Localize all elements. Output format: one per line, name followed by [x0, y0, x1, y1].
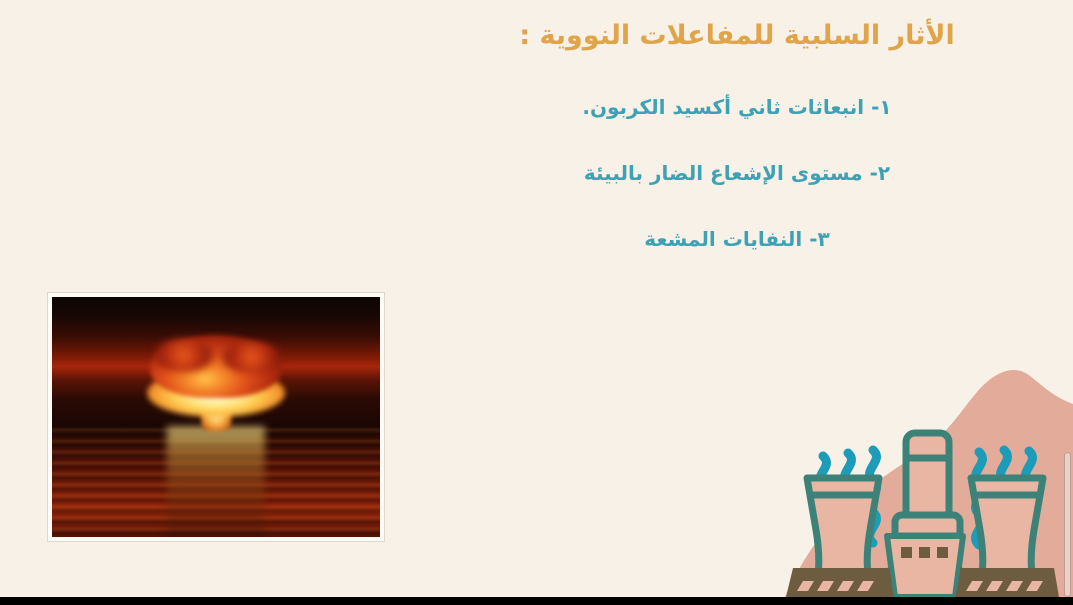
- page-title: الأثار السلبية للمفاعلات النووية :: [437, 18, 1037, 53]
- reactor-building: [887, 536, 963, 597]
- vertical-scrollbar[interactable]: [1064, 452, 1071, 597]
- building-window: [901, 547, 912, 558]
- bottom-letterbox-bar: [0, 597, 1073, 605]
- photo-reflection: [167, 427, 265, 537]
- list-item: ١- انبعاثات ثاني أكسيد الكربون.: [437, 95, 1037, 119]
- slide-root: الأثار السلبية للمفاعلات النووية : ١- ان…: [0, 0, 1073, 605]
- building-window: [937, 547, 948, 558]
- list-item: ٢- مستوى الإشعاع الضار بالبيئة: [437, 161, 1037, 185]
- nuclear-power-plant-illustration: [690, 300, 1073, 597]
- mushroom-cloud-cap: [150, 335, 281, 397]
- nuclear-explosion-photo: [48, 293, 384, 541]
- list-item: ٣- النفايات المشعة: [437, 227, 1037, 251]
- building-window: [919, 547, 930, 558]
- bullet-list: ١- انبعاثات ثاني أكسيد الكربون. ٢- مستوى…: [437, 95, 1037, 293]
- photo-canvas: [52, 297, 380, 537]
- central-chimney: [895, 433, 960, 536]
